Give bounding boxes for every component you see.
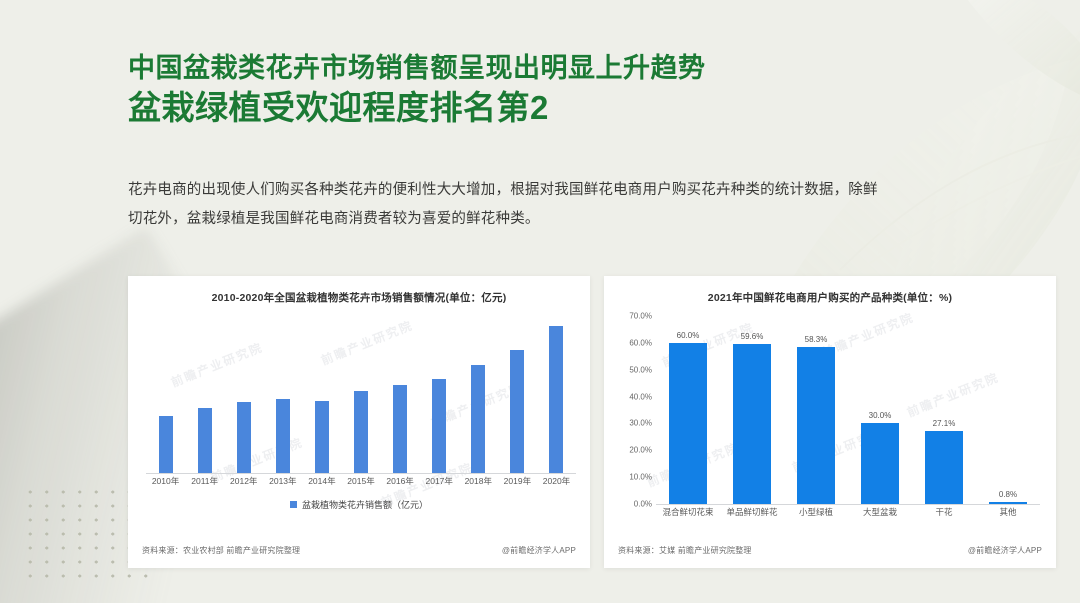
right-y-tick-label: 40.0% xyxy=(629,392,652,401)
right-bar-value-label: 30.0% xyxy=(869,411,892,420)
chart-card-left: 2010-2020年全国盆栽植物类花卉市场销售额情况(单位：亿元) 前瞻产业研究… xyxy=(128,276,590,568)
right-y-tick-label: 0.0% xyxy=(634,500,652,509)
right-bar-value-label: 58.3% xyxy=(805,335,828,344)
left-bar-slot xyxy=(146,316,185,473)
right-x-tick-label: 混合鲜切花束 xyxy=(656,506,720,518)
right-chart-bar xyxy=(925,431,963,504)
right-chart-y-axis: 0.0%10.0%20.0%30.0%40.0%50.0%60.0%70.0% xyxy=(614,316,654,504)
left-chart-x-axis: 2010年2011年2012年2013年2014年2015年2016年2017年… xyxy=(146,475,576,487)
left-x-tick-label: 2019年 xyxy=(498,475,537,487)
right-y-tick-label: 20.0% xyxy=(629,446,652,455)
left-bar-slot xyxy=(459,316,498,473)
heading-block: 中国盆栽类花卉市场销售额呈现出明显上升趋势 盆栽绿植受欢迎程度排名第2 xyxy=(128,52,918,128)
right-x-tick-label: 其他 xyxy=(976,506,1040,518)
slide-canvas: 中国盆栽类花卉市场销售额呈现出明显上升趋势 盆栽绿植受欢迎程度排名第2 花卉电商… xyxy=(0,0,1080,603)
left-chart-bar xyxy=(159,416,173,473)
left-chart-bar xyxy=(432,379,446,473)
left-x-tick-label: 2011年 xyxy=(185,475,224,487)
right-bar-slot: 60.0% xyxy=(656,316,720,504)
left-bar-slot xyxy=(498,316,537,473)
right-x-tick-label: 干花 xyxy=(912,506,976,518)
left-chart-title: 2010-2020年全国盆栽植物类花卉市场销售额情况(单位：亿元) xyxy=(128,276,590,305)
chart-card-right: 2021年中国鲜花电商用户购买的产品种类(单位：%) 前瞻产业研究院 前瞻产业研… xyxy=(604,276,1056,568)
right-chart-bar xyxy=(861,423,899,504)
left-x-tick-label: 2020年 xyxy=(537,475,576,487)
right-bar-value-label: 27.1% xyxy=(933,419,956,428)
left-bar-slot xyxy=(420,316,459,473)
right-chart-footer: 资料来源：艾媒 前瞻产业研究院整理 @前瞻经济学人APP xyxy=(618,545,1042,556)
left-chart-bar xyxy=(315,401,329,473)
left-bar-slot xyxy=(185,316,224,473)
left-chart-source: 资料来源：农业农村部 前瞻产业研究院整理 xyxy=(142,545,300,556)
right-chart-bar xyxy=(989,502,1027,504)
right-chart-plot-area: 60.0%59.6%58.3%30.0%27.1%0.8% xyxy=(656,316,1040,505)
right-bar-slot: 27.1% xyxy=(912,316,976,504)
legend-color-swatch xyxy=(290,501,297,508)
left-x-tick-label: 2018年 xyxy=(459,475,498,487)
right-bar-slot: 59.6% xyxy=(720,316,784,504)
left-bar-slot xyxy=(302,316,341,473)
page-title-line-2: 盆栽绿植受欢迎程度排名第2 xyxy=(128,87,918,128)
right-y-tick-label: 60.0% xyxy=(629,338,652,347)
left-bar-slot xyxy=(537,316,576,473)
left-x-tick-label: 2013年 xyxy=(263,475,302,487)
legend-label: 盆栽植物类花卉销售额（亿元） xyxy=(302,498,428,511)
page-title-line-1: 中国盆栽类花卉市场销售额呈现出明显上升趋势 xyxy=(128,52,918,85)
left-bar-slot xyxy=(341,316,380,473)
left-x-tick-label: 2016年 xyxy=(381,475,420,487)
left-chart-bar xyxy=(354,391,368,473)
left-chart-bar xyxy=(471,365,485,473)
left-chart-bar xyxy=(510,350,524,474)
left-bar-slot xyxy=(263,316,302,473)
left-chart-bar xyxy=(549,326,563,473)
right-x-tick-label: 大型盆栽 xyxy=(848,506,912,518)
right-y-tick-label: 10.0% xyxy=(629,473,652,482)
right-chart-bar xyxy=(733,344,771,504)
left-bar-slot xyxy=(381,316,420,473)
right-bar-value-label: 59.6% xyxy=(741,332,764,341)
left-x-tick-label: 2017年 xyxy=(420,475,459,487)
right-chart-x-axis: 混合鲜切花束单品鲜切鲜花小型绿植大型盆栽干花其他 xyxy=(656,506,1040,518)
right-bar-slot: 58.3% xyxy=(784,316,848,504)
right-bar-slot: 30.0% xyxy=(848,316,912,504)
right-bar-slot: 0.8% xyxy=(976,316,1040,504)
left-chart-legend: 盆栽植物类花卉销售额（亿元） xyxy=(128,498,590,511)
right-y-tick-label: 70.0% xyxy=(629,312,652,321)
right-chart-app-credit: @前瞻经济学人APP xyxy=(968,545,1042,556)
left-chart-footer: 资料来源：农业农村部 前瞻产业研究院整理 @前瞻经济学人APP xyxy=(142,545,576,556)
right-chart-bar xyxy=(797,347,835,504)
left-chart-bar xyxy=(237,402,251,473)
left-chart-app-credit: @前瞻经济学人APP xyxy=(502,545,576,556)
left-bar-slot xyxy=(224,316,263,473)
right-x-tick-label: 单品鲜切鲜花 xyxy=(720,506,784,518)
right-y-tick-label: 30.0% xyxy=(629,419,652,428)
right-chart-source: 资料来源：艾媒 前瞻产业研究院整理 xyxy=(618,545,752,556)
left-chart-plot-area xyxy=(146,316,576,474)
right-bar-value-label: 0.8% xyxy=(999,490,1017,499)
right-chart-bar xyxy=(669,343,707,504)
left-x-tick-label: 2015年 xyxy=(341,475,380,487)
right-y-tick-label: 50.0% xyxy=(629,365,652,374)
left-chart-bar xyxy=(393,385,407,473)
right-bar-value-label: 60.0% xyxy=(677,331,700,340)
left-x-tick-label: 2014年 xyxy=(302,475,341,487)
left-x-tick-label: 2010年 xyxy=(146,475,185,487)
left-chart-bar xyxy=(198,408,212,473)
right-chart-title: 2021年中国鲜花电商用户购买的产品种类(单位：%) xyxy=(604,276,1056,305)
left-chart-bar xyxy=(276,399,290,473)
right-x-tick-label: 小型绿植 xyxy=(784,506,848,518)
left-x-tick-label: 2012年 xyxy=(224,475,263,487)
body-paragraph: 花卉电商的出现使人们购买各种类花卉的便利性大大增加，根据对我国鲜花电商用户购买花… xyxy=(128,176,888,234)
